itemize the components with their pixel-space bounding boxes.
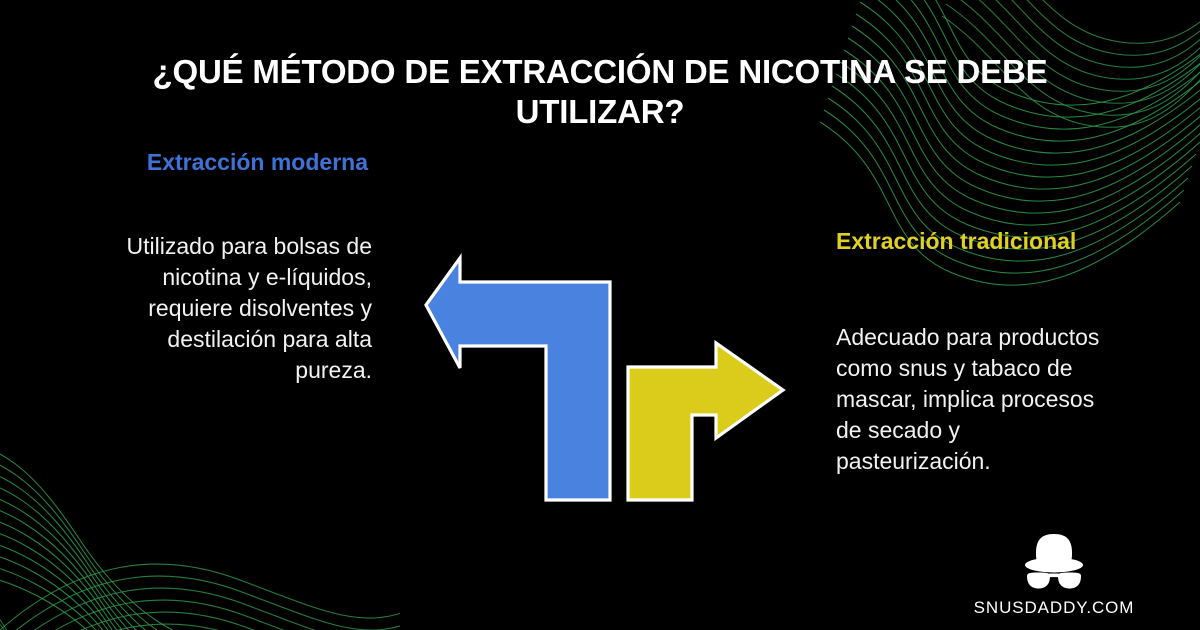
left-column-body: Utilizado para bolsas de nicotina y e-lí… (100, 231, 372, 386)
arrow-diagram (410, 240, 800, 515)
brand-name: SNUSDADDY.COM (964, 598, 1144, 618)
blue-left-arrow-shape (426, 258, 610, 500)
brand-block: SNUSDADDY.COM (964, 532, 1144, 618)
hat-sunglasses-icon (1011, 532, 1097, 592)
infographic-canvas: ¿QUÉ MÉTODO DE EXTRACCIÓN DE NICOTINA SE… (0, 0, 1200, 630)
page-title: ¿QUÉ MÉTODO DE EXTRACCIÓN DE NICOTINA SE… (100, 52, 1100, 133)
right-column-body: Adecuado para productos como snus y taba… (836, 322, 1106, 477)
yellow-right-arrow-shape (628, 343, 783, 500)
right-column-heading: Extracción tradicional (836, 227, 1116, 256)
decorative-waves-top-right (820, 0, 1200, 312)
left-column-heading: Extracción moderna (108, 148, 368, 177)
